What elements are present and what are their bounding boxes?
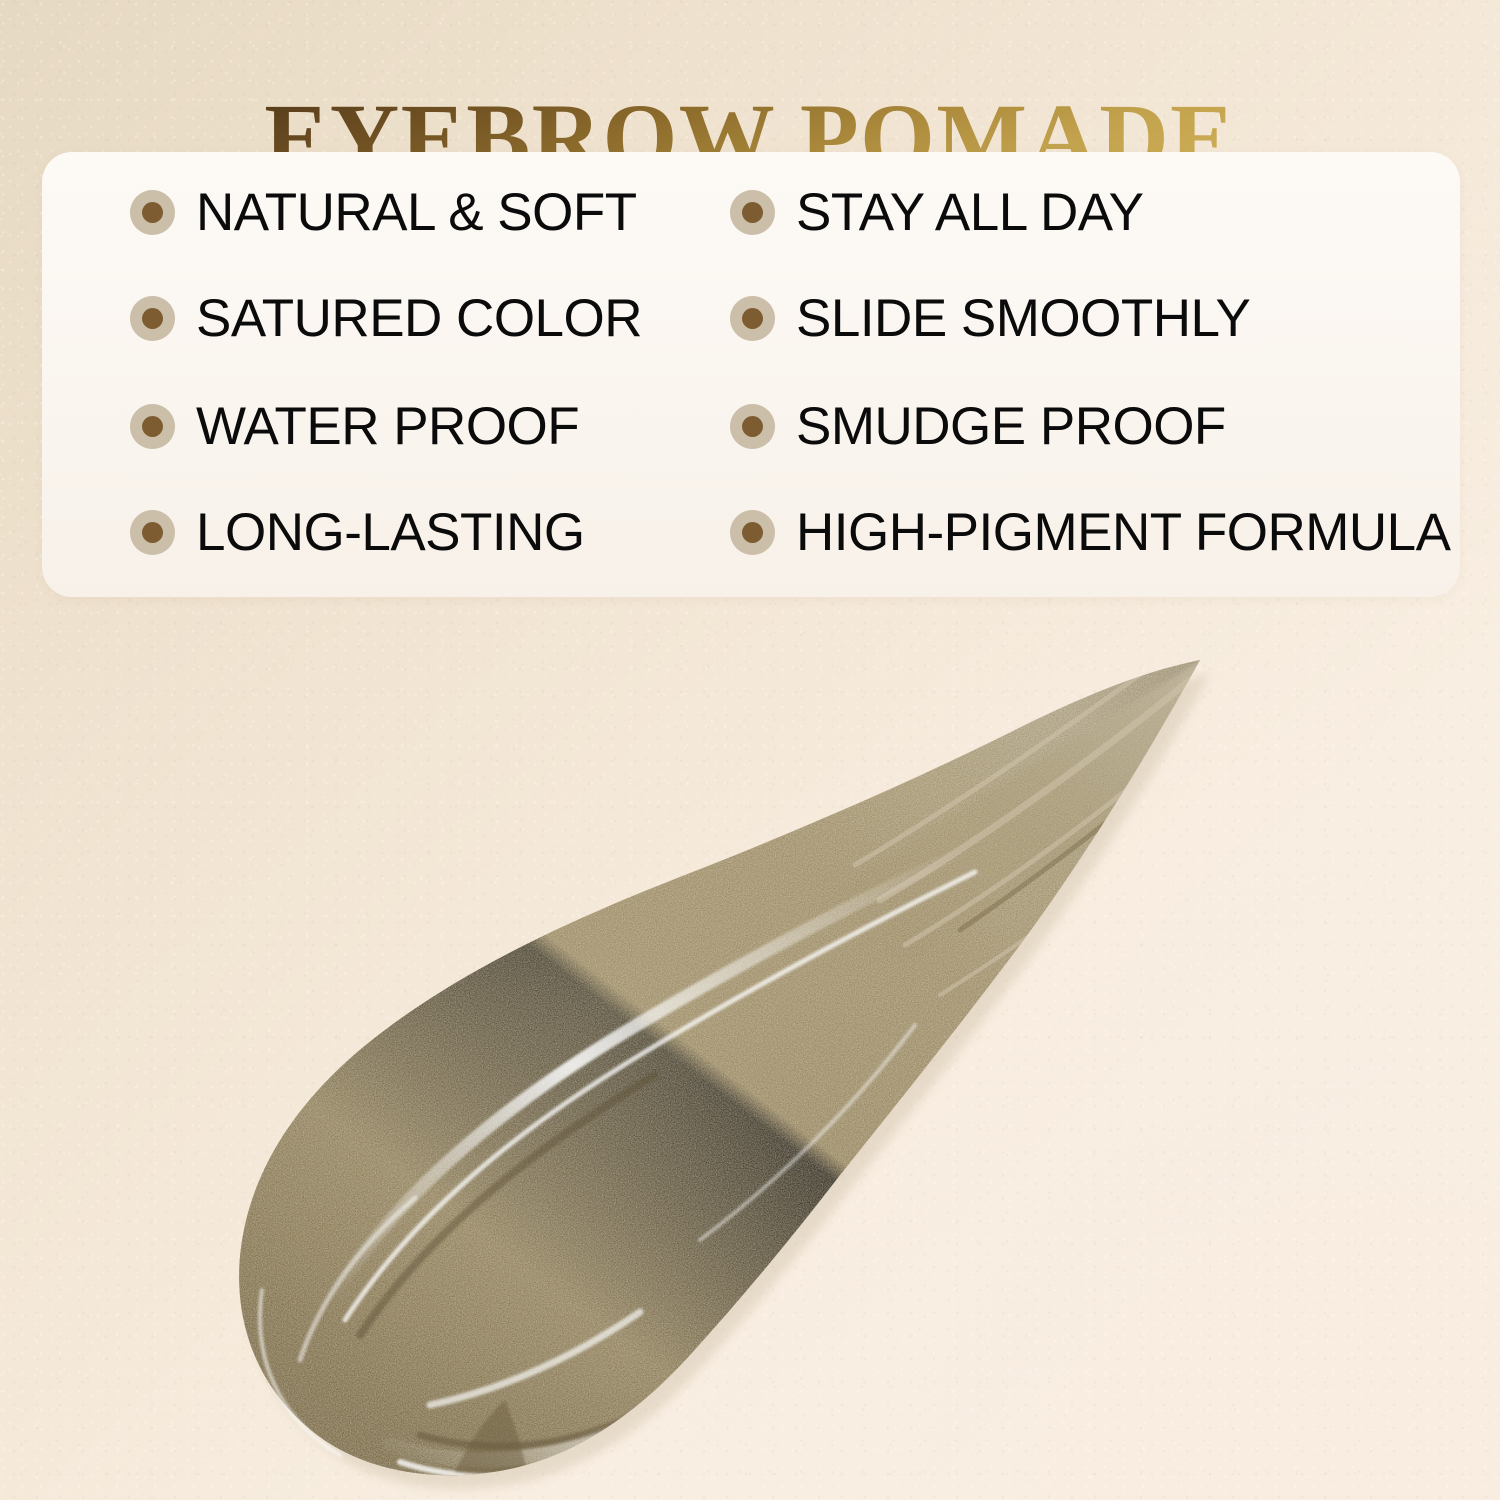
pomade-smear-swatch [0,600,1500,1500]
feature-item-high-pigment-formula: HIGH-PIGMENT FORMULA [730,496,1451,568]
feature-label: HIGH-PIGMENT FORMULA [796,506,1451,559]
feature-item-water-proof: WATER PROOF [130,390,579,462]
bullet-dot-icon [130,190,175,235]
product-swatch-area [0,600,1500,1500]
features-card: NATURAL & SOFT SATURED COLOR WATER PROOF… [42,152,1460,597]
feature-label: SATURED COLOR [196,292,642,345]
bullet-dot-icon [730,510,775,555]
feature-item-natural-soft: NATURAL & SOFT [130,176,637,248]
feature-item-slide-smoothly: SLIDE SMOOTHLY [730,282,1250,354]
bullet-dot-icon [730,190,775,235]
feature-label: NATURAL & SOFT [196,186,637,239]
feature-label: SMUDGE PROOF [796,400,1226,453]
bullet-dot-icon [130,296,175,341]
feature-label: STAY ALL DAY [796,186,1144,239]
feature-item-stay-all-day: STAY ALL DAY [730,176,1144,248]
feature-label: WATER PROOF [196,400,579,453]
feature-item-satured-color: SATURED COLOR [130,282,642,354]
product-feature-poster: EYEBROW POMADE NATURAL & SOFT SATURED CO… [0,0,1500,1500]
bullet-dot-icon [130,404,175,449]
feature-item-long-lasting: LONG-LASTING [130,496,585,568]
bullet-dot-icon [730,404,775,449]
bullet-dot-icon [730,296,775,341]
feature-label: SLIDE SMOOTHLY [796,292,1250,345]
features-grid: NATURAL & SOFT SATURED COLOR WATER PROOF… [42,152,1460,597]
bullet-dot-icon [130,510,175,555]
feature-item-smudge-proof: SMUDGE PROOF [730,390,1226,462]
feature-label: LONG-LASTING [196,506,585,559]
